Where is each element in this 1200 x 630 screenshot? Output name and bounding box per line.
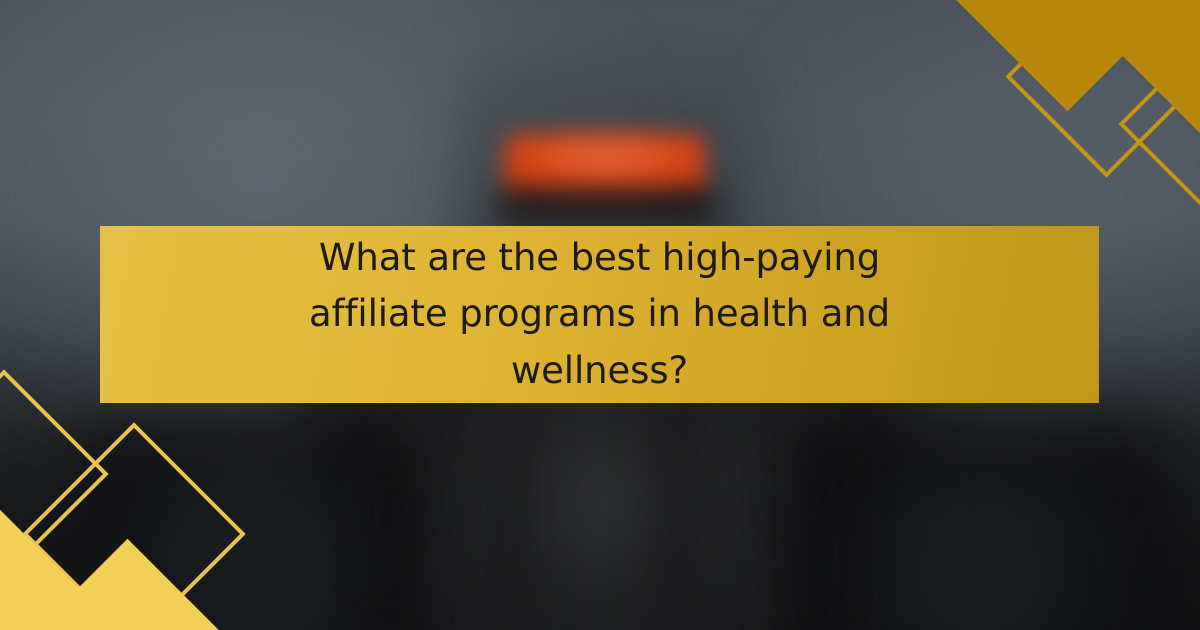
background-mass-left <box>70 420 430 630</box>
background-pillar-3 <box>660 400 694 630</box>
background-orange-sign <box>505 134 705 196</box>
headline-banner: What are the best high-paying affiliate … <box>100 226 1099 403</box>
share-card-canvas: What are the best high-paying affiliate … <box>0 0 1200 630</box>
background-pillar-1 <box>380 460 404 630</box>
headline-text: What are the best high-paying affiliate … <box>250 230 950 399</box>
background-sign-shadow <box>500 188 715 222</box>
background-pillar-2 <box>500 420 528 630</box>
background-pillar-4 <box>820 440 846 630</box>
